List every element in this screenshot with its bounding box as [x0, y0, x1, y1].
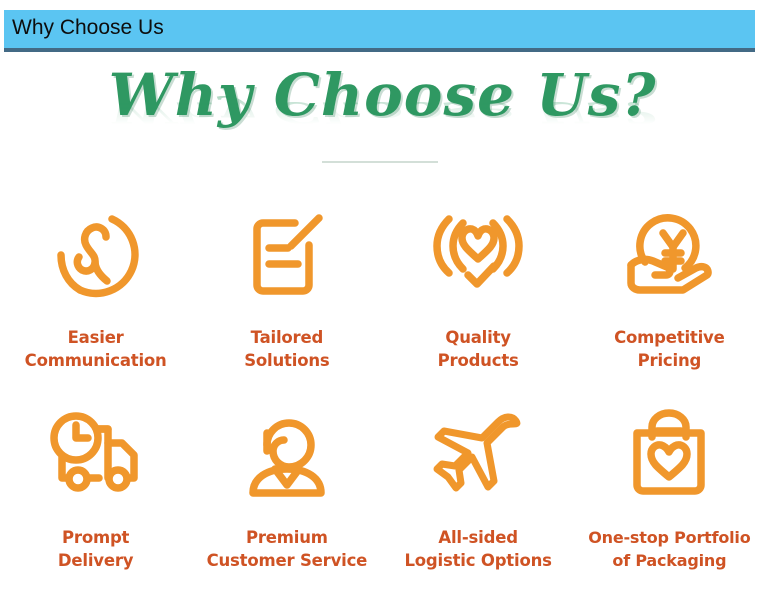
feature-label: Quality Products: [438, 326, 519, 372]
feature-item-one-stop-portfolio-of-packaging[interactable]: One-stop Portfolio of Packaging: [574, 396, 765, 599]
feature-label: Prompt Delivery: [58, 526, 133, 572]
feature-label: One-stop Portfolio of Packaging: [588, 526, 750, 572]
hand-coin-yen-icon: [621, 196, 717, 314]
feature-item-quality-products[interactable]: Quality Products: [383, 196, 574, 396]
feature-item-competitive-pricing[interactable]: Competitive Pricing: [574, 196, 765, 396]
delivery-truck-clock-icon: [46, 396, 146, 514]
feature-item-premium-customer-service[interactable]: Premium Customer Service: [191, 396, 382, 599]
feature-label: Tailored Solutions: [244, 326, 329, 372]
feature-item-easier-communication[interactable]: Easier Communication: [0, 196, 191, 396]
feature-item-all-sided-logistic-options[interactable]: All-sided Logistic Options: [383, 396, 574, 599]
shopping-bag-heart-icon: [621, 396, 717, 514]
ear-in-circle-icon: [50, 196, 142, 314]
window-titlebar: Why Choose Us: [4, 10, 755, 52]
feature-item-prompt-delivery[interactable]: Prompt Delivery: [0, 396, 191, 599]
window-title: Why Choose Us: [12, 16, 164, 40]
feature-item-tailored-solutions[interactable]: Tailored Solutions: [191, 196, 382, 396]
feature-row-2: Prompt Delivery Premium Customer Service…: [0, 396, 765, 599]
feature-label: Easier Communication: [25, 326, 167, 372]
page-title: Why Choose Us?: [0, 60, 765, 130]
heart-signal-check-icon: [432, 196, 524, 314]
document-pencil-icon: [241, 196, 333, 314]
heading-divider: [322, 161, 438, 163]
hero-heading-block: Why Choose Us? Why Choose Us?: [0, 60, 765, 170]
feature-row-1: Easier Communication Tailored Solutions: [0, 196, 765, 396]
feature-label: All-sided Logistic Options: [404, 526, 551, 572]
headset-agent-icon: [237, 396, 337, 514]
feature-label: Competitive Pricing: [614, 326, 724, 372]
feature-label: Premium Customer Service: [207, 526, 368, 572]
airplane-icon: [430, 396, 526, 514]
feature-grid: Easier Communication Tailored Solutions: [0, 196, 765, 599]
